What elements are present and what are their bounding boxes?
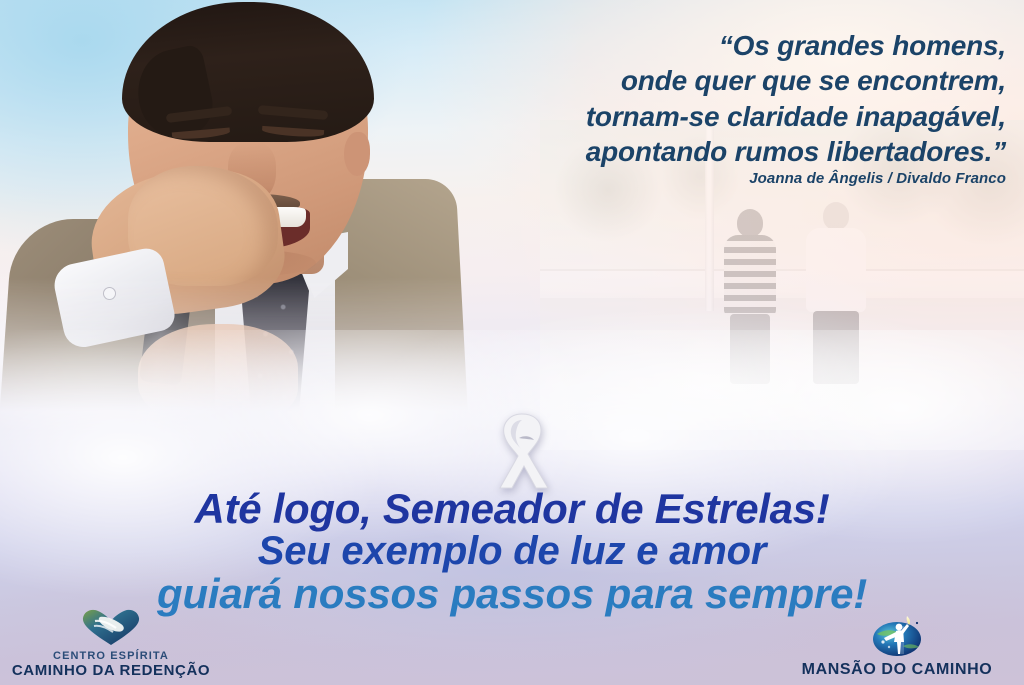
headline-line-1: Até logo, Semeador de Estrelas! <box>0 487 1024 531</box>
globe-figure-icon <box>869 614 925 658</box>
memorial-poster: “Os grandes homens, onde quer que se enc… <box>0 0 1024 685</box>
portrait-divaldo <box>0 0 470 424</box>
portrait-hair <box>122 2 374 142</box>
logo-mansao-do-caminho[interactable]: MANSÃO DO CAMINHO <box>782 614 1012 679</box>
portrait-cuff-button <box>104 288 115 299</box>
quote-line-4: apontando rumos libertadores.” <box>470 134 1006 169</box>
quote-text: “Os grandes homens, onde quer que se enc… <box>470 28 1006 169</box>
scene-person-head <box>737 209 763 237</box>
logo-centro-espirita[interactable]: CENTRO ESPÍRITA CAMINHO DA REDENÇÃO <box>6 607 216 679</box>
scene-person-head <box>823 202 849 230</box>
headline-block: Até logo, Semeador de Estrelas! Seu exem… <box>0 487 1024 616</box>
quote-attribution: Joanna de Ângelis / Divaldo Franco <box>470 170 1006 187</box>
scene-person-torso <box>806 228 866 312</box>
scene-person-torso <box>724 235 776 316</box>
portrait-lower-hand <box>138 324 298 424</box>
quote-line-2: onde quer que se encontrem, <box>470 63 1006 98</box>
heart-hands-icon <box>80 607 142 647</box>
portrait-ear <box>344 132 370 176</box>
logo-mansao-do-caminho-label: MANSÃO DO CAMINHO <box>782 661 1012 679</box>
logo-centro-espirita-line2: CAMINHO DA REDENÇÃO <box>6 662 216 679</box>
scene-person-legs <box>813 311 859 384</box>
quote-line-3: tornam-se claridade inapagável, <box>470 99 1006 134</box>
scene-person-legs <box>730 314 770 384</box>
logo-centro-espirita-line1: CENTRO ESPÍRITA <box>6 650 216 662</box>
scene-person-white-shirt <box>806 202 866 384</box>
scene-ground <box>540 298 1024 450</box>
quote-line-1: “Os grandes homens, <box>470 28 1006 63</box>
scene-person-striped <box>724 209 776 384</box>
mourning-ribbon-icon <box>486 408 558 492</box>
headline-line-2: Seu exemplo de luz e amor <box>0 531 1024 573</box>
